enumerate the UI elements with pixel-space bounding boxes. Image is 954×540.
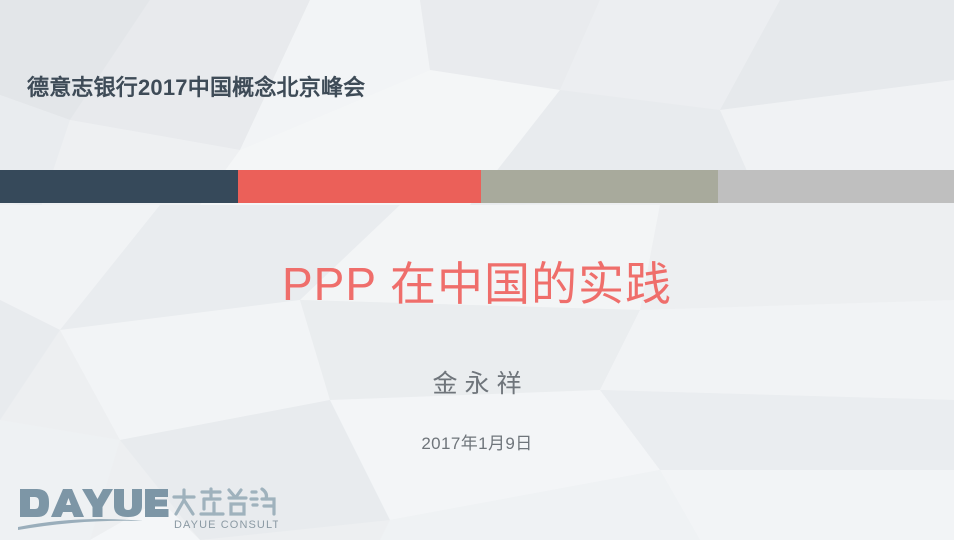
presentation-slide: 德意志银行2017中国概念北京峰会 PPP 在中国的实践 金永祥 2017年1月…	[0, 0, 954, 540]
band-segment-coral	[238, 170, 481, 203]
company-logo: DAYUE CONSULTING	[18, 483, 278, 533]
deck-title: PPP 在中国的实践	[0, 258, 954, 311]
band-segment-sage	[481, 170, 718, 203]
logo-chinese-name	[174, 489, 274, 514]
color-band	[0, 170, 954, 203]
band-segment-gray	[718, 170, 954, 203]
title-block: PPP 在中国的实践	[0, 258, 954, 311]
logo-wordmark	[20, 489, 169, 517]
band-segment-slate	[0, 170, 238, 203]
logo-tagline: DAYUE CONSULTING	[174, 519, 278, 531]
logo-swoosh	[18, 519, 143, 530]
event-title: 德意志银行2017中国概念北京峰会	[27, 70, 365, 102]
presenter-name: 金永祥	[0, 364, 954, 400]
presentation-date: 2017年1月9日	[0, 429, 954, 454]
